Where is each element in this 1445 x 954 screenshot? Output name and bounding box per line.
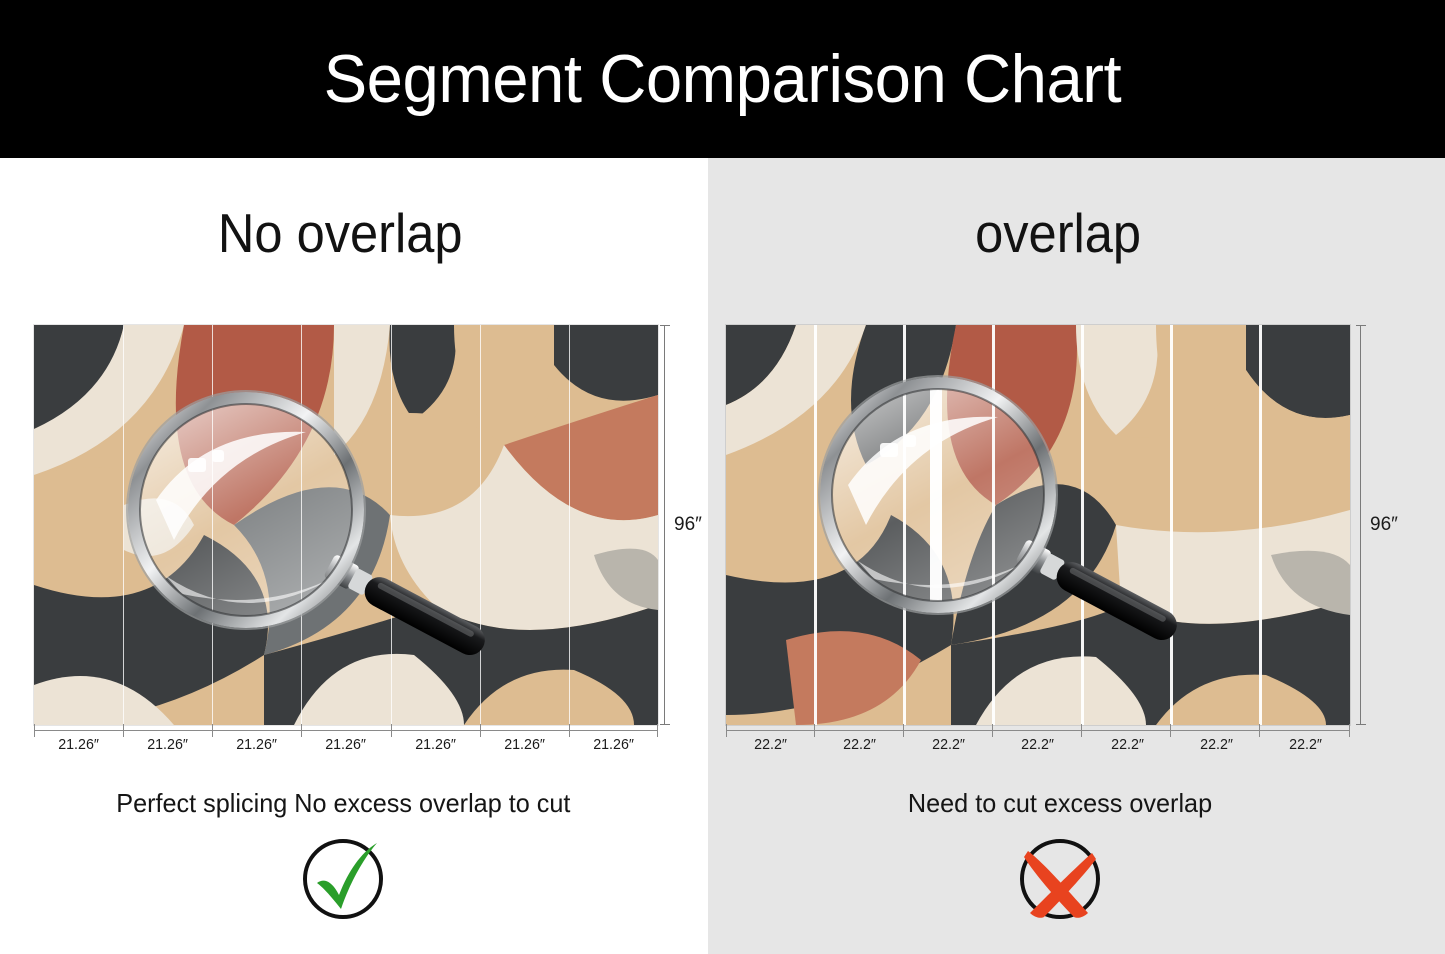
height-label-left: 96″: [674, 514, 702, 536]
panel-heading-overlap: overlap: [737, 206, 1415, 261]
segment-label: 21.26″: [36, 736, 121, 753]
segment-label: 21.26″: [215, 736, 300, 753]
red-cross-icon: [1014, 833, 1106, 925]
green-check-icon: [297, 833, 389, 925]
panel-heading-no-overlap: No overlap: [28, 206, 679, 261]
segment-label: 21.26″: [304, 736, 389, 753]
dimension-tick-bottom: [1356, 724, 1366, 725]
mural-no-overlap: [34, 325, 658, 725]
segment-label: 22.2″: [1174, 736, 1259, 753]
mural-pattern-left: [34, 325, 658, 725]
caption-overlap: Need to cut excess overlap: [719, 788, 1434, 819]
segment-dimensions-left: 21.26″ 21.26″ 21.26″ 21.26″ 21.26″ 21.26…: [34, 730, 658, 770]
segment-label: 22.2″: [728, 736, 813, 753]
segment-label: 22.2″: [1263, 736, 1348, 753]
comparison-chart-page: Segment Comparison Chart No overlap: [0, 0, 1445, 954]
mural-artwork-right: [726, 325, 1350, 725]
dimension-tick-top: [660, 325, 670, 326]
dimension-tick-bottom: [660, 724, 670, 725]
caption-no-overlap: Perfect splicing No excess overlap to cu…: [11, 788, 698, 819]
segment-label: 21.26″: [482, 736, 567, 753]
dimension-tick-top: [1356, 325, 1366, 326]
height-dimension-right: 96″: [1356, 325, 1378, 725]
page-title: Segment Comparison Chart: [324, 45, 1122, 113]
segment-label: 22.2″: [907, 736, 992, 753]
panel-overlap: overlap: [708, 158, 1445, 954]
mural-artwork-left: [34, 325, 658, 725]
status-overlap: [708, 833, 1445, 925]
mural-overlap: [726, 325, 1350, 725]
panels-container: No overlap: [0, 158, 1445, 954]
segment-label: 21.26″: [393, 736, 478, 753]
segment-label: 21.26″: [125, 736, 210, 753]
dimension-baseline: [34, 730, 658, 731]
dimension-baseline: [726, 730, 1350, 731]
height-dimension-left: 96″: [660, 325, 682, 725]
segment-label: 22.2″: [1085, 736, 1170, 753]
segment-label: 22.2″: [996, 736, 1081, 753]
segment-label-row-right: 22.2″ 22.2″ 22.2″ 22.2″ 22.2″ 22.2″ 22.2…: [726, 736, 1350, 753]
segment-label: 21.26″: [571, 736, 656, 753]
mural-pattern-right: [726, 325, 1350, 725]
dimension-line: [664, 325, 665, 725]
panel-no-overlap: No overlap: [0, 158, 708, 954]
segment-dimensions-right: 22.2″ 22.2″ 22.2″ 22.2″ 22.2″ 22.2″ 22.2…: [726, 730, 1350, 770]
dimension-line: [1360, 325, 1361, 725]
status-no-overlap: [0, 833, 708, 925]
segment-label: 22.2″: [817, 736, 902, 753]
header-bar: Segment Comparison Chart: [0, 0, 1445, 158]
segment-label-row-left: 21.26″ 21.26″ 21.26″ 21.26″ 21.26″ 21.26…: [34, 736, 658, 753]
height-label-right: 96″: [1370, 514, 1398, 536]
